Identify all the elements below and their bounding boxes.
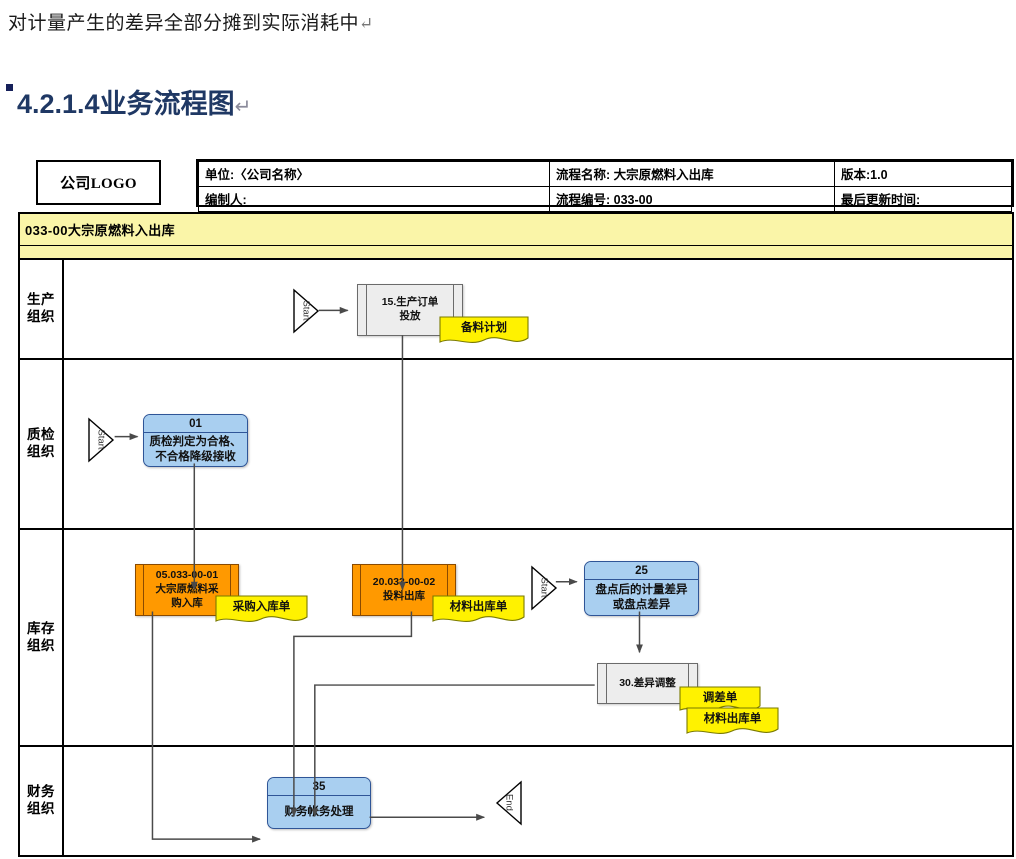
process-bar-left-icon bbox=[366, 285, 367, 335]
node-stocktake-variance-label: 盘点后的计量差异 或盘点差异 bbox=[585, 580, 698, 615]
node-line2: 投料出库 bbox=[383, 590, 425, 604]
doc-material-plan[interactable]: 备料计划 bbox=[439, 316, 529, 348]
heading-bullet-icon bbox=[6, 84, 13, 91]
meta-author: 编制人: bbox=[199, 187, 550, 212]
lane-label-line2: 组织 bbox=[27, 444, 55, 459]
node-line3: 购入库 bbox=[171, 597, 203, 611]
lane-label-line2: 组织 bbox=[27, 801, 55, 816]
lane-inventory: 库存 组织 05.033-00-01 大宗原燃料采 购入库 采购入库单 bbox=[20, 528, 1012, 745]
node-finance-accounting[interactable]: 35 财务帐务处理 bbox=[267, 777, 371, 829]
lane-label-production: 生产 组织 bbox=[20, 260, 64, 358]
start-marker-quality: Start bbox=[87, 417, 115, 463]
doc-purchase-receipt-label: 采购入库单 bbox=[215, 598, 308, 614]
node-line1: 30.差异调整 bbox=[619, 677, 676, 691]
node-finance-accounting-number: 35 bbox=[268, 778, 370, 796]
diagram-banner-title: 033-00大宗原燃料入出库 bbox=[25, 220, 175, 239]
doc-purchase-receipt[interactable]: 采购入库单 bbox=[215, 595, 308, 627]
node-line1: 质检判定为合格、 bbox=[150, 436, 242, 448]
lane-finance: 财务 组织 35 财务帐务处理 End bbox=[20, 745, 1012, 855]
lane-label-line2: 组织 bbox=[27, 638, 55, 653]
node-line2: 不合格降级接收 bbox=[155, 451, 236, 463]
pilcrow-mark: ↵ bbox=[359, 14, 374, 33]
swimlane-diagram: 033-00大宗原燃料入出库 生产 组织 Start 15.生产订单 投放 bbox=[18, 212, 1014, 857]
end-marker-finance: End bbox=[495, 780, 523, 826]
lane-label-line1: 财务 bbox=[27, 784, 55, 799]
node-line1: 20.033-00-02 bbox=[373, 576, 435, 590]
diagram-banner-secondary bbox=[20, 246, 1012, 260]
lane-label-finance: 财务 组织 bbox=[20, 747, 64, 855]
subprocess-bar-left-icon bbox=[360, 565, 361, 615]
company-logo-cell: 公司LOGO bbox=[36, 160, 161, 205]
doc-material-outbound-2[interactable]: 材料出库单 bbox=[686, 707, 779, 739]
meta-updated: 最后更新时间: bbox=[835, 187, 1012, 212]
node-line2: 或盘点差异 bbox=[613, 599, 671, 611]
start-marker-label: Start bbox=[539, 569, 550, 607]
meta-unit: 单位:〈公司名称〉 bbox=[199, 162, 550, 187]
heading-title: 业务流程图 bbox=[100, 89, 235, 119]
doc-material-outbound-1-label: 材料出库单 bbox=[432, 598, 525, 614]
start-marker-label: Start bbox=[301, 292, 312, 330]
lane-label-line1: 质检 bbox=[27, 427, 55, 442]
node-line1: 盘点后的计量差异 bbox=[596, 584, 688, 596]
end-marker-label: End bbox=[504, 786, 515, 820]
page-heading: 4.2.1.4业务流程图↵ bbox=[17, 82, 251, 121]
flow-meta-table: 单位:〈公司名称〉 流程名称: 大宗原燃料入出库 版本:1.0 编制人: 流程编… bbox=[196, 159, 1014, 207]
meta-process-code: 流程编号: 033-00 bbox=[550, 187, 835, 212]
node-quality-judgement-label: 质检判定为合格、 不合格降级接收 bbox=[144, 433, 247, 466]
lane-production: 生产 组织 Start 15.生产订单 投放 bbox=[20, 260, 1012, 358]
paragraph-text: 对计量产生的差异全部分摊到实际消耗中 bbox=[8, 13, 359, 34]
node-stocktake-variance[interactable]: 25 盘点后的计量差异 或盘点差异 bbox=[584, 561, 699, 616]
start-marker-production: Start bbox=[292, 288, 320, 334]
lane-body-quality: Start 01 质检判定为合格、 不合格降级接收 bbox=[64, 360, 1012, 528]
node-line1: 财务帐务处理 bbox=[285, 805, 354, 819]
node-line1: 15.生产订单 bbox=[382, 296, 439, 310]
lane-label-line1: 库存 bbox=[27, 621, 55, 636]
heading-number: 4.2.1.4 bbox=[17, 89, 100, 119]
lane-body-finance: 35 财务帐务处理 End bbox=[64, 747, 1012, 855]
node-variance-adjustment-label: 30.差异调整 bbox=[608, 664, 687, 703]
node-quality-judgement[interactable]: 01 质检判定为合格、 不合格降级接收 bbox=[143, 414, 248, 467]
company-logo-label: 公司LOGO bbox=[60, 172, 137, 193]
lane-label-line2: 组织 bbox=[27, 309, 55, 324]
lane-label-quality: 质检 组织 bbox=[20, 360, 64, 528]
lane-body-production: Start 15.生产订单 投放 备料计划 bbox=[64, 260, 1012, 358]
doc-material-outbound-1[interactable]: 材料出库单 bbox=[432, 595, 525, 627]
doc-material-plan-label: 备料计划 bbox=[439, 319, 529, 335]
meta-process-name: 流程名称: 大宗原燃料入出库 bbox=[550, 162, 835, 187]
lane-body-inventory: 05.033-00-01 大宗原燃料采 购入库 采购入库单 20.033-00-… bbox=[64, 530, 1012, 745]
node-stocktake-variance-number: 25 bbox=[585, 562, 698, 580]
flow-header-table: 公司LOGO 单位:〈公司名称〉 流程名称: 大宗原燃料入出库 版本:1.0 编… bbox=[36, 159, 1014, 207]
node-line1: 05.033-00-01 bbox=[156, 569, 218, 583]
start-marker-inventory: Start bbox=[530, 565, 558, 611]
diagram-banner: 033-00大宗原燃料入出库 bbox=[20, 214, 1012, 246]
table-row: 编制人: 流程编号: 033-00 最后更新时间: bbox=[199, 187, 1012, 212]
node-quality-judgement-number: 01 bbox=[144, 415, 247, 433]
lane-quality: 质检 组织 Start 01 质检判定为合格、 不合格降级接收 bbox=[20, 358, 1012, 528]
lane-label-line1: 生产 bbox=[27, 292, 55, 307]
process-bar-left-icon bbox=[606, 664, 607, 703]
meta-version: 版本:1.0 bbox=[835, 162, 1012, 187]
node-line2: 投放 bbox=[400, 310, 421, 324]
subprocess-bar-left-icon bbox=[143, 565, 144, 615]
document-paragraph: 对计量产生的差异全部分摊到实际消耗中↵ bbox=[8, 8, 374, 35]
start-marker-label: Start bbox=[96, 421, 107, 459]
table-row: 单位:〈公司名称〉 流程名称: 大宗原燃料入出库 版本:1.0 bbox=[199, 162, 1012, 187]
heading-pilcrow: ↵ bbox=[235, 96, 252, 118]
node-finance-accounting-label: 财务帐务处理 bbox=[268, 796, 370, 828]
doc-material-outbound-2-label: 材料出库单 bbox=[686, 710, 779, 726]
lane-label-inventory: 库存 组织 bbox=[20, 530, 64, 745]
node-line2: 大宗原燃料采 bbox=[156, 583, 219, 597]
doc-adjustment-slip-label: 调差单 bbox=[679, 689, 761, 705]
